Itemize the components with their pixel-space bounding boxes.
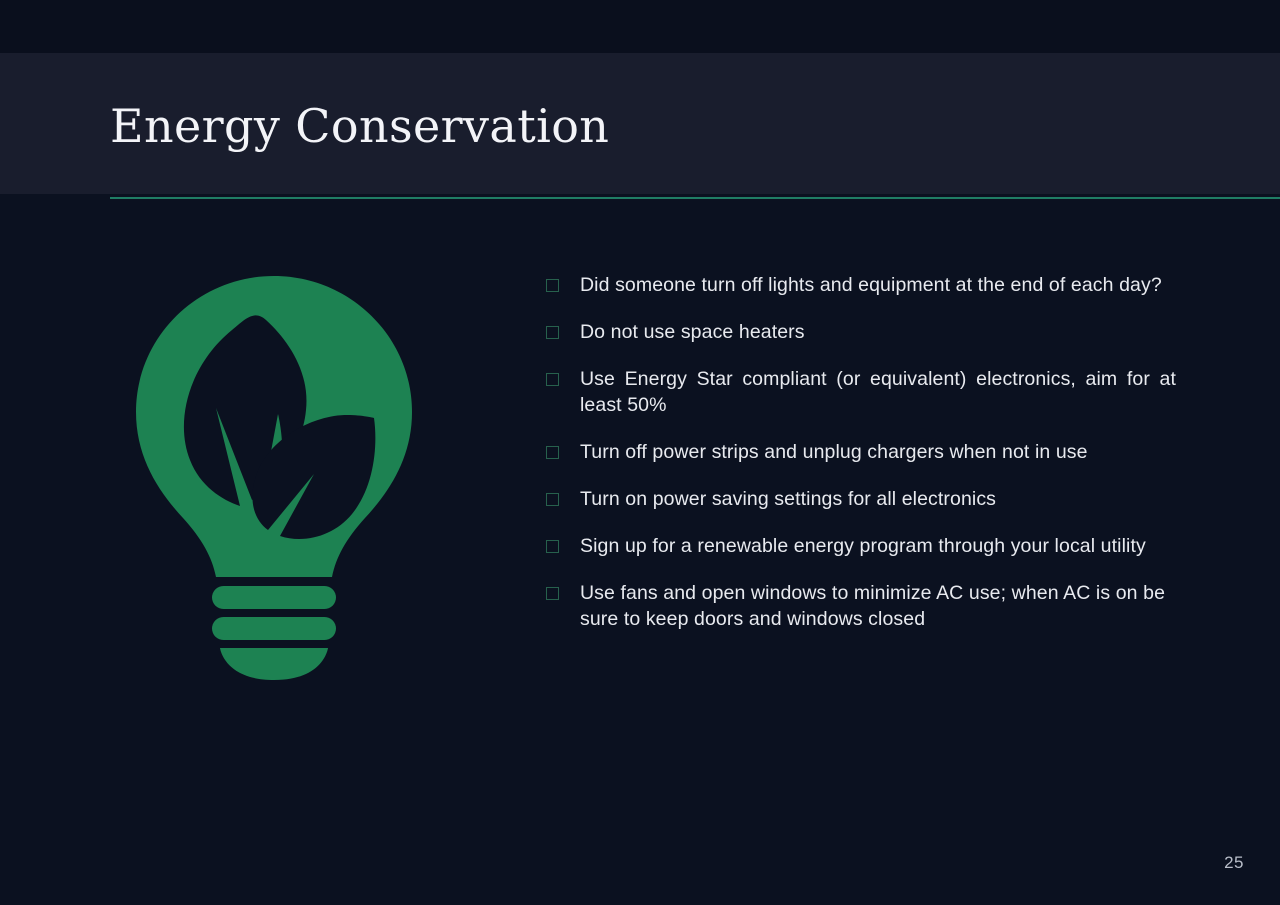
checkbox-icon[interactable] [546,540,559,553]
list-item-label: Turn on power saving settings for all el… [580,486,1176,512]
list-item-label: Do not use space heaters [580,319,1176,345]
list-item[interactable]: Turn on power saving settings for all el… [546,486,1176,512]
list-item-label: Did someone turn off lights and equipmen… [580,272,1176,298]
checkbox-icon[interactable] [546,279,559,292]
checkbox-icon[interactable] [546,493,559,506]
slide-energy-conservation: Energy Conservation [0,0,1280,905]
checkbox-icon[interactable] [546,587,559,600]
list-item[interactable]: Sign up for a renewable energy program t… [546,533,1176,559]
list-item[interactable]: Use Energy Star compliant (or equivalent… [546,366,1176,418]
header-divider [110,197,1280,199]
list-item-label: Sign up for a renewable energy program t… [580,533,1176,559]
list-item[interactable]: Do not use space heaters [546,319,1176,345]
page-number: 25 [1224,853,1244,873]
lightbulb-with-leaf-icon [128,268,420,688]
checkbox-icon[interactable] [546,326,559,339]
page-title: Energy Conservation [110,103,609,149]
list-item-label: Use fans and open windows to minimize AC… [580,580,1176,632]
list-item[interactable]: Turn off power strips and unplug charger… [546,439,1176,465]
top-strip [0,0,1280,53]
list-item-label: Turn off power strips and unplug charger… [580,439,1176,465]
list-item-label: Use Energy Star compliant (or equivalent… [580,366,1176,418]
list-item[interactable]: Use fans and open windows to minimize AC… [546,580,1176,632]
list-item[interactable]: Did someone turn off lights and equipmen… [546,272,1176,298]
checkbox-icon[interactable] [546,446,559,459]
checkbox-icon[interactable] [546,373,559,386]
energy-conservation-checklist: Did someone turn off lights and equipmen… [546,272,1176,632]
